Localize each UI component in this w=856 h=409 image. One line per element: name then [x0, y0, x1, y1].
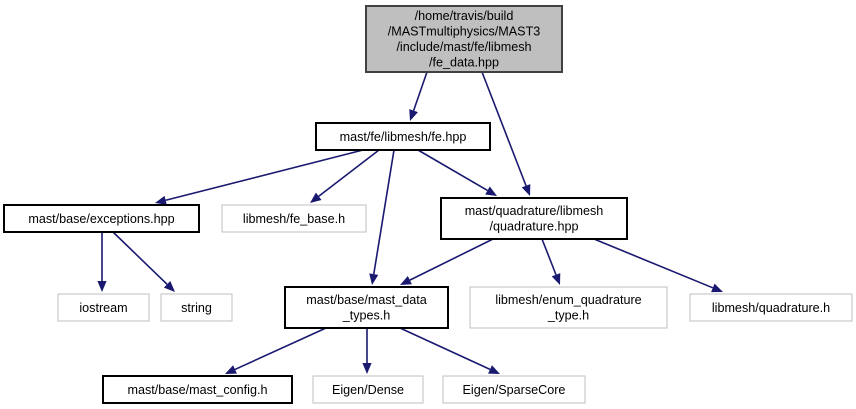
node-label: libmesh/enum_quadrature — [495, 293, 641, 307]
include-dependency-graph: /home/travis/build/MASTmultiphysics/MAST… — [0, 0, 856, 409]
graph-edge — [369, 150, 394, 285]
node-label: /include/mast/fe/libmesh — [396, 40, 531, 54]
graph-edge — [400, 239, 493, 285]
node-label: libmesh/quadrature.h — [712, 301, 830, 315]
graph-edge — [418, 150, 497, 196]
node-label: Eigen/Dense — [332, 383, 404, 397]
edge-line — [166, 150, 363, 200]
graph-edge — [155, 150, 363, 205]
edge-arrowhead — [522, 184, 531, 196]
node-label: mast/quadrature/libmesh — [465, 204, 604, 218]
edge-arrowhead — [552, 273, 561, 285]
node-label: mast/fe/libmesh/fe.hpp — [340, 130, 467, 144]
graph-edge — [362, 328, 371, 374]
edge-arrowhead — [155, 196, 167, 205]
graph-nodes: /home/travis/build/MASTmultiphysics/MAST… — [4, 6, 852, 403]
graph-edge — [400, 328, 500, 374]
edge-arrowhead — [310, 193, 322, 203]
node-label: mast/base/exceptions.hpp — [28, 212, 174, 226]
edge-line — [414, 72, 427, 111]
graph-edge — [97, 232, 106, 292]
node-label: _type.h — [547, 309, 589, 323]
graph-node-mast-config-h[interactable]: mast/base/mast_config.h — [103, 376, 292, 403]
node-label: libmesh/fe_base.h — [243, 212, 345, 226]
edge-line — [418, 150, 487, 190]
graph-node-string[interactable]: string — [161, 294, 232, 321]
edge-arrowhead — [711, 284, 723, 293]
edge-line — [374, 150, 394, 274]
node-label: /fe_data.hpp — [429, 56, 499, 70]
node-label: string — [181, 301, 212, 315]
edge-line — [410, 239, 493, 280]
graph-node-exceptions-hpp[interactable]: mast/base/exceptions.hpp — [4, 205, 199, 232]
node-label: mast/base/mast_data — [306, 293, 426, 307]
edge-line — [400, 328, 490, 369]
graph-edge — [113, 232, 175, 292]
graph-node-eigen-dense[interactable]: Eigen/Dense — [313, 376, 423, 403]
node-label: /quadrature.hpp — [490, 220, 579, 234]
graph-node-mast-data-types-h[interactable]: mast/base/mast_data_types.h — [285, 287, 448, 328]
edge-line — [319, 150, 379, 196]
edge-line — [235, 328, 326, 369]
node-label: /MASTmultiphysics/MAST3 — [388, 25, 541, 39]
edge-arrowhead — [485, 186, 497, 196]
graph-node-iostream[interactable]: iostream — [58, 294, 149, 321]
graph-node-eigen-sparsecore[interactable]: Eigen/SparseCore — [443, 376, 585, 403]
graph-edge — [542, 239, 560, 285]
edge-line — [594, 239, 713, 288]
edge-arrowhead — [362, 363, 371, 374]
edge-line — [113, 232, 167, 284]
graph-node-quadrature-hpp[interactable]: mast/quadrature/libmesh/quadrature.hpp — [441, 198, 627, 239]
graph-edge — [594, 239, 723, 292]
node-label: mast/base/mast_config.h — [127, 383, 267, 397]
node-label: /home/travis/build — [415, 9, 514, 23]
edge-arrowhead — [97, 281, 106, 292]
graph-node-fe-base-h[interactable]: libmesh/fe_base.h — [222, 205, 366, 232]
graph-edge — [409, 72, 427, 121]
graph-node-root[interactable]: /home/travis/build/MASTmultiphysics/MAST… — [366, 6, 562, 72]
node-label: iostream — [79, 301, 127, 315]
graph-node-libmesh-quadrature-h[interactable]: libmesh/quadrature.h — [690, 294, 852, 321]
graph-node-enum-quadrature-type-h[interactable]: libmesh/enum_quadrature_type.h — [470, 287, 667, 328]
graph-canvas: /home/travis/build/MASTmultiphysics/MAST… — [0, 0, 856, 409]
edge-arrowhead — [369, 273, 378, 285]
graph-edge — [225, 328, 326, 374]
graph-node-fe-hpp[interactable]: mast/fe/libmesh/fe.hpp — [316, 123, 490, 150]
graph-edge — [310, 150, 379, 203]
node-label: _types.h — [342, 309, 391, 323]
edge-arrowhead — [409, 109, 418, 121]
node-label: Eigen/SparseCore — [463, 383, 566, 397]
edge-line — [542, 239, 556, 275]
